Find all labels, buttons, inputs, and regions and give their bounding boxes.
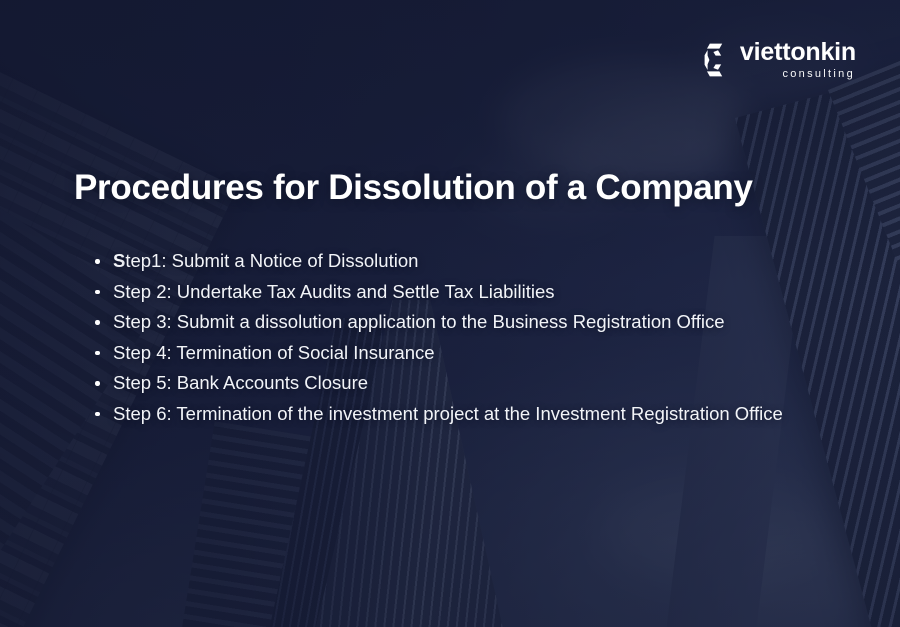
list-item: Step1: Submit a Notice of Dissolution [93, 246, 873, 277]
step-bold-prefix: S [113, 250, 125, 271]
logo-text-block: viettonkin consulting [740, 40, 856, 80]
steps-list: Step1: Submit a Notice of Dissolution St… [93, 246, 873, 429]
list-item: Step 5: Bank Accounts Closure [93, 368, 873, 399]
list-item: Step 3: Submit a dissolution application… [93, 307, 873, 338]
hexagon-c-logo-icon [697, 42, 731, 78]
logo-subtitle: consulting [782, 69, 855, 80]
logo-wordmark: viettonkin [740, 40, 856, 65]
brand-logo[interactable]: viettonkin consulting [697, 40, 856, 80]
slide-content: viettonkin consulting Procedures for Dis… [0, 0, 900, 627]
step-text: Step 6: Termination of the investment pr… [113, 403, 783, 424]
step-text: tep1: Submit a Notice of Dissolution [125, 250, 418, 271]
list-item: Step 2: Undertake Tax Audits and Settle … [93, 277, 873, 308]
step-text: Step 5: Bank Accounts Closure [113, 372, 368, 393]
list-item: Step 6: Termination of the investment pr… [93, 399, 873, 430]
presentation-slide: viettonkin consulting Procedures for Dis… [0, 0, 900, 627]
step-text: Step 2: Undertake Tax Audits and Settle … [113, 281, 555, 302]
list-item: Step 4: Termination of Social Insurance [93, 338, 873, 369]
slide-title: Procedures for Dissolution of a Company [74, 168, 753, 208]
step-text: Step 4: Termination of Social Insurance [113, 342, 435, 363]
step-text: Step 3: Submit a dissolution application… [113, 311, 725, 332]
